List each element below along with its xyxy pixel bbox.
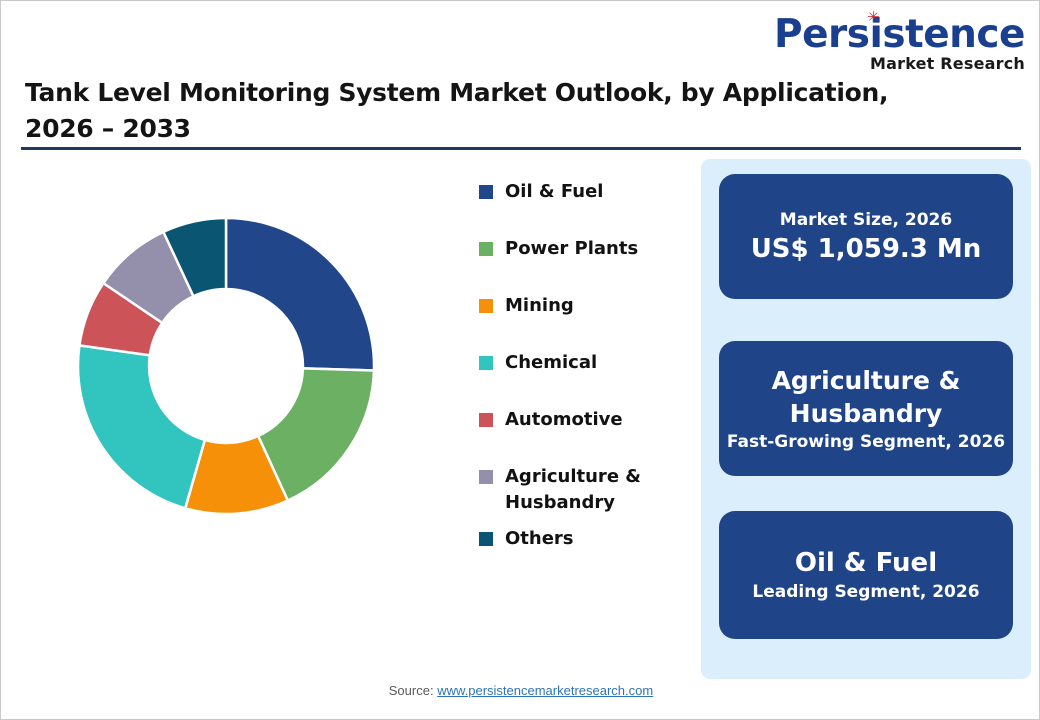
legend-item-automotive[interactable]: Automotive xyxy=(479,407,694,433)
market-size-card: Market Size, 2026 US$ 1,059.3 Mn xyxy=(719,174,1013,299)
legend-item-chemical[interactable]: Chemical xyxy=(479,350,694,376)
footer: Source: www.persistencemarketresearch.co… xyxy=(1,683,1040,698)
leading-segment-caption: Leading Segment, 2026 xyxy=(752,580,979,604)
source-label: Source: xyxy=(389,683,437,698)
legend-item-others[interactable]: Others xyxy=(479,526,694,552)
legend-swatch-icon xyxy=(479,185,493,199)
legend-label: Chemical xyxy=(505,350,597,376)
brand-logo: Persistence ✳ Market Research xyxy=(774,15,1025,72)
legend-label: Agriculture & Husbandry xyxy=(505,464,694,516)
donut-slice[interactable] xyxy=(78,345,205,508)
donut-slice[interactable] xyxy=(226,218,374,370)
leading-segment-card: Oil & Fuel Leading Segment, 2026 xyxy=(719,511,1013,639)
logo-tagline: Market Research xyxy=(774,56,1025,72)
fast-growing-segment-caption: Fast-Growing Segment, 2026 xyxy=(727,430,1005,454)
info-panel: Market Size, 2026 US$ 1,059.3 Mn Oil & F… xyxy=(701,159,1031,679)
legend-swatch-icon xyxy=(479,532,493,546)
legend-label: Automotive xyxy=(505,407,623,433)
legend-swatch-icon xyxy=(479,242,493,256)
market-size-value: US$ 1,059.3 Mn xyxy=(751,232,982,266)
legend-item-power-plants[interactable]: Power Plants xyxy=(479,236,694,262)
donut-chart-svg xyxy=(41,166,471,606)
legend-item-agriculture-husbandry[interactable]: Agriculture & Husbandry xyxy=(479,464,694,516)
title-divider xyxy=(21,147,1021,150)
legend-label: Others xyxy=(505,526,574,552)
donut-slice-group xyxy=(78,218,374,514)
legend-label: Oil & Fuel xyxy=(505,179,603,205)
legend-swatch-icon xyxy=(479,299,493,313)
legend-item-oil-fuel[interactable]: Oil & Fuel xyxy=(479,179,694,205)
header: Persistence ✳ Market Research Tank Level… xyxy=(1,1,1040,149)
legend-label: Mining xyxy=(505,293,574,319)
fast-growing-segment-value-line2: Husbandry xyxy=(790,397,943,430)
market-size-caption: Market Size, 2026 xyxy=(780,208,952,232)
legend-swatch-icon xyxy=(479,356,493,370)
logo-wordmark-text: Persistence xyxy=(774,12,1025,57)
source-link[interactable]: www.persistencemarketresearch.com xyxy=(437,683,653,698)
fast-growing-segment-card: Agriculture & Husbandry Fast-Growing Seg… xyxy=(719,341,1013,476)
logo-wordmark: Persistence ✳ xyxy=(774,15,1025,54)
legend-swatch-icon xyxy=(479,470,493,484)
infographic-page: Persistence ✳ Market Research Tank Level… xyxy=(0,0,1040,720)
legend-swatch-icon xyxy=(479,413,493,427)
chart-legend: Oil & Fuel Power Plants Mining Chemical … xyxy=(479,179,694,583)
page-title: Tank Level Monitoring System Market Outl… xyxy=(25,75,905,147)
donut-chart xyxy=(41,166,471,606)
leading-segment-value: Oil & Fuel xyxy=(795,546,937,580)
fast-growing-segment-value-line1: Agriculture & xyxy=(772,364,961,397)
legend-label: Power Plants xyxy=(505,236,638,262)
logo-star-icon: ✳ xyxy=(867,12,878,23)
legend-item-mining[interactable]: Mining xyxy=(479,293,694,319)
